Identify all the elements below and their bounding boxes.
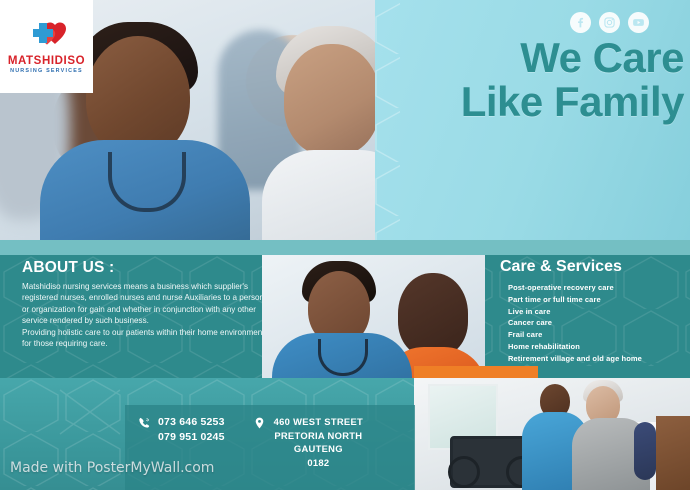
about-us-title: ABOUT US : bbox=[22, 259, 266, 277]
address-contact-group[interactable]: 460 WEST STREET PRETORIA NORTH GAUTENG 0… bbox=[225, 405, 363, 470]
hero-headline: We Care Like Family bbox=[384, 36, 684, 124]
facebook-icon[interactable] bbox=[570, 12, 591, 33]
list-item: Live in care bbox=[508, 306, 686, 318]
phone-number: 079 951 0245 bbox=[158, 430, 225, 445]
address-line: 460 WEST STREET bbox=[274, 415, 363, 429]
teal-accent-tab bbox=[538, 366, 690, 378]
about-us-body: Matshidiso nursing services means a busi… bbox=[22, 281, 266, 350]
phone-icon bbox=[137, 415, 151, 446]
poster-canvas: We Care Like Family bbox=[0, 0, 690, 490]
about-us-block: ABOUT US : Matshidiso nursing services m… bbox=[22, 259, 266, 350]
brand-logo-card: MATSHIDISO NURSING SERVICES bbox=[0, 0, 93, 93]
list-item: Cancer care bbox=[508, 317, 686, 329]
list-item: Retirement village and old age home bbox=[508, 353, 686, 365]
services-list: Post-operative recovery care Part time o… bbox=[500, 282, 686, 376]
postermywall-watermark: Made with PosterMyWall.com bbox=[10, 460, 214, 476]
address-line: GAUTENG bbox=[274, 442, 363, 456]
location-pin-icon bbox=[253, 415, 267, 470]
orange-accent-bar bbox=[414, 366, 538, 378]
logo-cross-heart-icon bbox=[25, 19, 69, 53]
address-lines: 460 WEST STREET PRETORIA NORTH GAUTENG 0… bbox=[274, 415, 363, 470]
care-and-services-block: Care & Services Post-operative recovery … bbox=[500, 258, 686, 376]
mid-photo-nurse-with-patient bbox=[262, 255, 485, 378]
care-and-services-title: Care & Services bbox=[500, 258, 686, 276]
youtube-icon[interactable] bbox=[628, 12, 649, 33]
logo-brand-name: MATSHIDISO bbox=[8, 55, 85, 67]
list-item: Post-operative recovery care bbox=[508, 282, 686, 294]
address-line: 0182 bbox=[274, 456, 363, 470]
light-teal-divider bbox=[0, 240, 690, 255]
social-links[interactable] bbox=[570, 12, 649, 33]
list-item: Home rehabilitation bbox=[508, 341, 686, 353]
bottom-photo-caregiver-assisting-elderly bbox=[414, 378, 690, 490]
logo-brand-tagline: NURSING SERVICES bbox=[10, 68, 83, 74]
phone-numbers: 073 646 5253 079 951 0245 bbox=[158, 415, 225, 446]
instagram-icon[interactable] bbox=[599, 12, 620, 33]
hero-section: We Care Like Family bbox=[0, 0, 690, 240]
phone-contact-group[interactable]: 073 646 5253 079 951 0245 bbox=[125, 405, 225, 446]
list-item: Part time or full time care bbox=[508, 294, 686, 306]
phone-number: 073 646 5253 bbox=[158, 415, 225, 430]
address-line: PRETORIA NORTH bbox=[274, 429, 363, 443]
list-item: Frail care bbox=[508, 329, 686, 341]
contact-info-box: 073 646 5253 079 951 0245 460 WEST STREE… bbox=[125, 405, 415, 490]
